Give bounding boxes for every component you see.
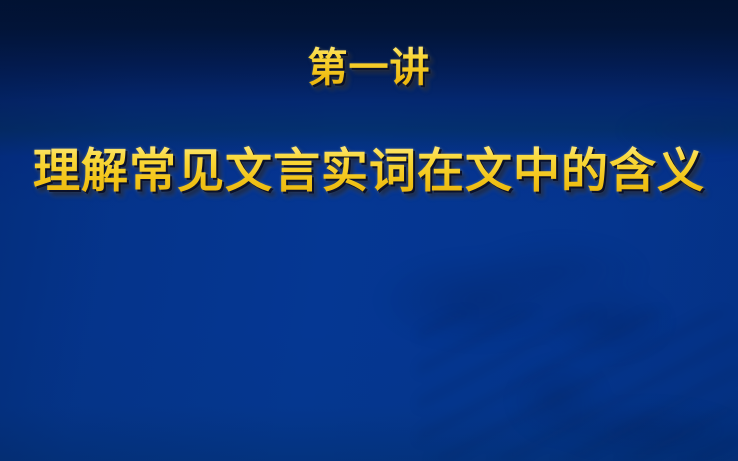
- slide-title: 第一讲: [0, 44, 738, 92]
- presentation-slide: 第一讲 理解常见文言实词在文中的含义: [0, 0, 738, 461]
- slide-subtitle: 理解常见文言实词在文中的含义: [0, 143, 738, 201]
- slide-background-streaks: [418, 311, 738, 461]
